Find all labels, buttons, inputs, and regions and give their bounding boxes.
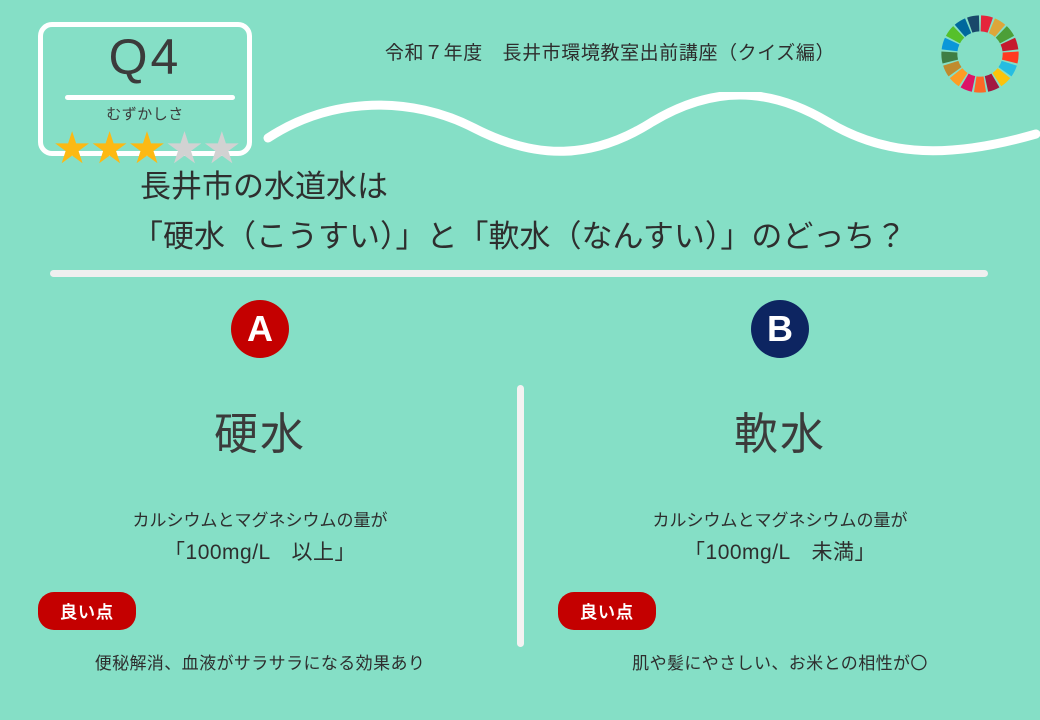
question-number-card: Q4 むずかしさ ★★★★★: [38, 22, 252, 156]
answer-desc-line2-a: 「100mg/L 以上」: [30, 536, 490, 570]
answer-description-b: カルシウムとマグネシウムの量が 「100mg/L 未満」: [550, 506, 1010, 570]
horizontal-divider: [50, 270, 988, 277]
answer-title-b: 軟水: [550, 398, 1010, 462]
sdgs-segment-9: [974, 76, 986, 92]
answer-letter-badge-b[interactable]: B: [751, 300, 809, 358]
question-line-1: 長井市の水道水は: [52, 162, 952, 212]
answer-description-a: カルシウムとマグネシウムの量が 「100mg/L 以上」: [30, 506, 490, 570]
answer-desc-line1-a: カルシウムとマグネシウムの量が: [30, 506, 490, 536]
good-point-badge-b: 良い点: [558, 592, 656, 630]
answer-option-b[interactable]: B 軟水 カルシウムとマグネシウムの量が 「100mg/L 未満」 良い点 肌や…: [550, 300, 1010, 674]
question-line-2: 「硬水（こうすい）」と「軟水（なんすい）」のどっち？: [52, 212, 952, 262]
wave-decoration: [262, 92, 1040, 158]
good-point-text-a: 便秘解消、血液がサラサラになる効果あり: [30, 649, 490, 674]
answer-letter-badge-a[interactable]: A: [231, 300, 289, 358]
answer-desc-line1-b: カルシウムとマグネシウムの量が: [550, 506, 1010, 536]
answer-title-a: 硬水: [30, 398, 490, 462]
good-point-badge-a: 良い点: [38, 592, 136, 630]
question-text: 長井市の水道水は 「硬水（こうすい）」と「軟水（なんすい）」のどっち？: [52, 162, 952, 262]
card-divider: [65, 95, 235, 100]
sdgs-wheel-logo: [938, 12, 1022, 96]
difficulty-label: むずかしさ: [43, 103, 247, 124]
answer-option-a[interactable]: A 硬水 カルシウムとマグネシウムの量が 「100mg/L 以上」 良い点 便秘…: [30, 300, 490, 674]
quiz-slide: Q4 むずかしさ ★★★★★ 令和７年度 長井市環境教室出前講座（クイズ編） 長…: [0, 0, 1040, 720]
page-title: 令和７年度 長井市環境教室出前講座（クイズ編）: [300, 38, 920, 65]
answer-desc-line2-b: 「100mg/L 未満」: [550, 536, 1010, 570]
vertical-divider: [517, 385, 524, 647]
good-point-text-b: 肌や髪にやさしい、お米との相性が〇: [550, 649, 1010, 674]
question-number: Q4: [43, 31, 247, 84]
